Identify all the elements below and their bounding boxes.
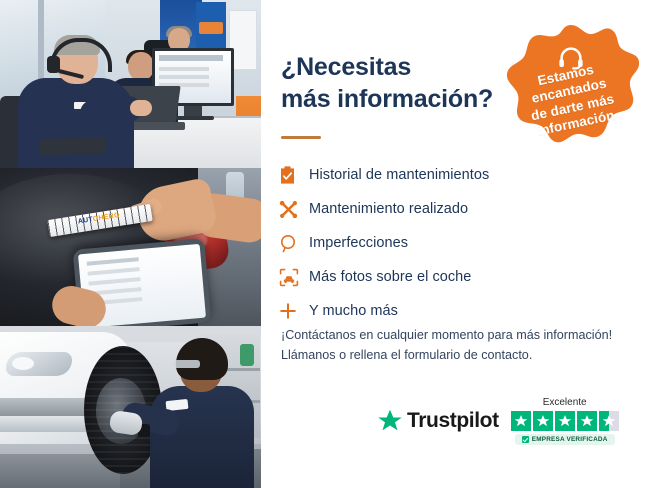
- star-icon: [602, 414, 616, 428]
- feature-label: Historial de mantenimientos: [309, 167, 489, 183]
- photo-mechanic-inspecting-wheel-on-lift: [0, 326, 261, 488]
- mechanic: [144, 338, 254, 488]
- magnifier-icon: [279, 232, 309, 254]
- trustpilot-rating-label: Excelente: [543, 397, 587, 408]
- star-icon: [514, 414, 528, 428]
- verified-company-label: EMPRESA VERIFICADA: [532, 436, 608, 443]
- title-accent-rule: [281, 136, 321, 139]
- content-panel: ¿Necesitas más información? Estamos enca…: [261, 0, 650, 488]
- feature-label: Más fotos sobre el coche: [309, 269, 471, 285]
- trustpilot-star-1: [511, 411, 531, 431]
- star-icon: [536, 414, 550, 428]
- trustpilot-star-5-half: [599, 411, 619, 431]
- contact-copy: ¡Contáctanos en cualquier momento para m…: [281, 325, 641, 366]
- car-photo-frame-icon: [279, 266, 309, 288]
- trustpilot-logo: Trustpilot: [377, 408, 499, 434]
- trustpilot-star-3: [555, 411, 575, 431]
- desk-tablet: [40, 137, 107, 155]
- clipboard-check-icon: [279, 164, 309, 186]
- safety-glasses: [174, 360, 200, 368]
- feature-item-maintenance-performed: Mantenimiento realizado: [279, 192, 619, 226]
- feature-list: Historial de mantenimientos M: [279, 158, 619, 328]
- page-title: ¿Necesitas más información?: [281, 52, 531, 115]
- feature-label: Mantenimiento realizado: [309, 201, 468, 217]
- monitor-base: [172, 116, 214, 120]
- verified-company-badge: EMPRESA VERIFICADA: [515, 434, 615, 445]
- trustpilot-star-2: [533, 411, 553, 431]
- plus-icon: [279, 300, 309, 322]
- feature-item-maintenance-history: Historial de mantenimientos: [279, 158, 619, 192]
- car-photo-frame-glyph: [279, 268, 299, 287]
- feature-label: Y mucho más: [309, 303, 398, 319]
- photo-autohero-ruler-measuring-car-body: AUTOHERO: [0, 168, 261, 326]
- verified-check-icon: [522, 436, 529, 443]
- star-icon: [580, 414, 594, 428]
- feature-label: Imperfecciones: [309, 235, 408, 251]
- trustpilot-wordmark: Trustpilot: [407, 409, 499, 433]
- trustpilot-score-block: Excelente: [511, 397, 619, 445]
- crossed-tools-glyph: [279, 200, 298, 219]
- feature-item-much-more: Y mucho más: [279, 294, 619, 328]
- trustpilot-star-4: [577, 411, 597, 431]
- trustpilot-star-icon: [377, 408, 403, 434]
- trustpilot-stars: [511, 411, 619, 431]
- wall-poster: [196, 2, 226, 48]
- page-title-line-1: ¿Necesitas: [281, 53, 411, 81]
- photo-collage: AUTOHERO: [0, 0, 261, 488]
- feature-item-more-car-photos: Más fotos sobre el coche: [279, 260, 619, 294]
- support-badge: Estamos encantados de darte más informac…: [500, 21, 642, 163]
- contact-copy-line-2: Llámanos o rellena el formulario de cont…: [281, 345, 641, 365]
- star-icon: [558, 414, 572, 428]
- crossed-tools-icon: [279, 198, 309, 220]
- headlight: [6, 352, 72, 376]
- hand: [130, 100, 152, 116]
- photo-call-center-agents-with-headsets: [0, 0, 261, 168]
- page-title-line-2: más información?: [281, 85, 493, 113]
- hair: [176, 338, 228, 380]
- information-banner: AUTOHERO: [0, 0, 650, 488]
- plus-glyph: [279, 302, 297, 320]
- magnifier-glyph: [279, 234, 297, 253]
- trustpilot-rating: Trustpilot Excelente: [377, 388, 637, 454]
- contact-copy-line-1: ¡Contáctanos en cualquier momento para m…: [281, 325, 641, 345]
- clipboard-check-glyph: [279, 166, 296, 185]
- feature-item-imperfections: Imperfecciones: [279, 226, 619, 260]
